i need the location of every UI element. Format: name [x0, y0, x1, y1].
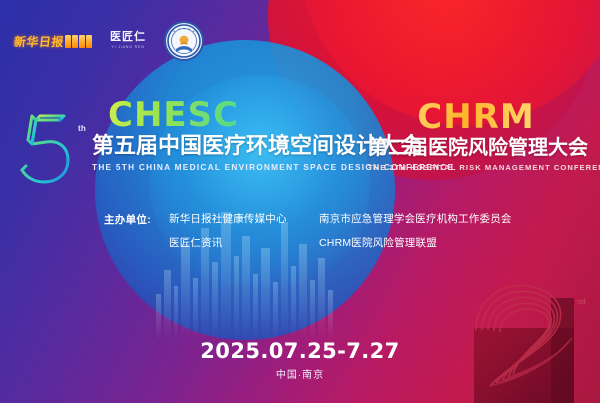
organizers-column-1: 新华日报社健康传媒中心 医匠仁资讯 — [169, 211, 319, 250]
xinhua-daily-logo: 新华日报 — [14, 33, 92, 50]
chrm-acronym: CHRM — [368, 100, 584, 134]
organizer-item: CHRM医院风险管理联盟 — [319, 235, 529, 250]
yijiangren-logo: 医匠仁 YI JIANG REN — [110, 32, 146, 49]
association-seal-logo: ★★★ ★★ — [164, 21, 204, 61]
chrm-title-cn: 第二届医院风险管理大会 — [368, 137, 584, 159]
edition-5-numeral: th — [16, 110, 74, 188]
seal-emblem-icon: ★★★ ★★ — [166, 23, 202, 59]
right-conference-block: CHRM 第二届医院风险管理大会 THE 2TH HOSPITAL RISK M… — [368, 100, 584, 172]
conference-poster: nd 新华日报 医匠仁 YI JIANG REN ★★★ ★★ — [0, 0, 600, 403]
organizers-section: 主办单位: 新华日报社健康传媒中心 医匠仁资讯 南京市应急管理学会医疗机构工作委… — [104, 211, 529, 250]
organizers-column-2: 南京市应急管理学会医疗机构工作委员会 CHRM医院风险管理联盟 — [319, 211, 529, 250]
organizer-item: 新华日报社健康传媒中心 — [169, 211, 319, 226]
organizer-item: 南京市应急管理学会医疗机构工作委员会 — [319, 211, 529, 226]
yijiangren-logo-text: 医匠仁 — [110, 32, 146, 43]
organizers-label: 主办单位: — [104, 211, 151, 250]
xinhua-daily-logo-text: 新华日报 — [13, 33, 65, 50]
yijiangren-logo-pinyin: YI JIANG REN — [111, 46, 144, 50]
chrm-title-en: THE 2TH HOSPITAL RISK MANAGEMENT CONFERE… — [368, 163, 584, 172]
event-date: 2025.07.25-7.27 — [0, 339, 600, 363]
organizer-item: 医匠仁资讯 — [169, 235, 319, 250]
edition-suffix-th: th — [78, 124, 86, 133]
sponsor-logo-bar: 新华日报 医匠仁 YI JIANG REN ★★★ ★★ — [14, 21, 204, 61]
decorative-2-numeral: nd — [456, 268, 596, 403]
svg-text:nd: nd — [577, 298, 586, 306]
edition-5-icon — [16, 110, 74, 188]
xinhua-daily-logo-blocks — [65, 35, 92, 48]
event-location: 中国·南京 — [0, 366, 600, 381]
